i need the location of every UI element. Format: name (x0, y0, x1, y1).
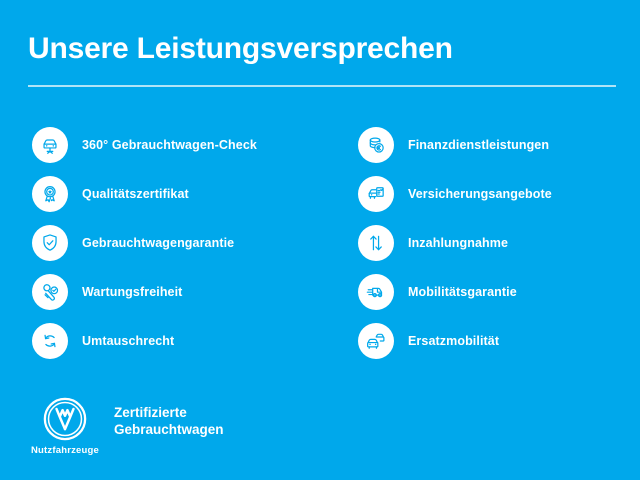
feature-label: Inzahlungnahme (408, 236, 508, 250)
feature-label: Qualitätszertifikat (82, 187, 189, 201)
badge-car-inspection (32, 127, 68, 163)
header-divider (28, 85, 616, 87)
feature-label: Umtauschrecht (82, 334, 174, 348)
badge-two-cars (358, 323, 394, 359)
feature-label: Versicherungsangebote (408, 187, 552, 201)
feature-columns: 360° Gebrauchtwagen-Check Qualitätszerti… (0, 120, 640, 365)
feature-item: Wartungsfreiheit (32, 267, 330, 316)
two-cars-icon (365, 330, 387, 352)
feature-label: Wartungsfreiheit (82, 285, 182, 299)
van-speed-icon (365, 281, 387, 303)
badge-shield-check (32, 225, 68, 261)
feature-item: 360° Gebrauchtwagen-Check (32, 120, 330, 169)
badge-coins-euro (358, 127, 394, 163)
badge-van-speed (358, 274, 394, 310)
brand-sub-label: Nutzfahrzeuge (31, 445, 99, 456)
badge-up-down-arrows (358, 225, 394, 261)
brand-block: Nutzfahrzeuge Zertifizierte Gebrauchtwag… (30, 396, 224, 456)
feature-item: Ersatzmobilität (358, 316, 640, 365)
brand-mark: Nutzfahrzeuge (30, 396, 100, 456)
badge-car-checklist (358, 176, 394, 212)
shield-check-icon (39, 232, 61, 254)
exchange-arrows-icon (39, 330, 61, 352)
header: Unsere Leistungsversprechen (28, 30, 616, 68)
feature-label: Ersatzmobilität (408, 334, 499, 348)
feature-item: Inzahlungnahme (358, 218, 640, 267)
brand-claim: Zertifizierte Gebrauchtwagen (114, 404, 224, 438)
feature-label: Finanzdienstleistungen (408, 138, 549, 152)
promise-poster: Unsere Leistungsversprechen 3 (0, 0, 640, 480)
brand-claim-line2: Gebrauchtwagen (114, 421, 224, 438)
brand-claim-line1: Zertifizierte (114, 404, 224, 421)
feature-label: Mobilitätsgarantie (408, 285, 517, 299)
coins-euro-icon (365, 134, 387, 156)
feature-item: Umtauschrecht (32, 316, 330, 365)
feature-item: Qualitätszertifikat (32, 169, 330, 218)
feature-item: Finanzdienstleistungen (358, 120, 640, 169)
car-checklist-icon (365, 183, 387, 205)
feature-column-left: 360° Gebrauchtwagen-Check Qualitätszerti… (0, 120, 330, 365)
up-down-arrows-icon (365, 232, 387, 254)
feature-column-right: Finanzdienstleistungen (330, 120, 640, 365)
car-inspection-icon (39, 134, 61, 156)
wrench-check-icon (39, 281, 61, 303)
vw-logo-icon (42, 396, 88, 442)
page-title: Unsere Leistungsversprechen (28, 30, 616, 68)
award-rosette-icon (39, 183, 61, 205)
feature-item: Gebrauchtwagengarantie (32, 218, 330, 267)
badge-wrench-check (32, 274, 68, 310)
badge-exchange-arrows (32, 323, 68, 359)
badge-award-rosette (32, 176, 68, 212)
feature-item: Mobilitätsgarantie (358, 267, 640, 316)
feature-label: Gebrauchtwagengarantie (82, 236, 234, 250)
feature-label: 360° Gebrauchtwagen-Check (82, 138, 257, 152)
feature-item: Versicherungsangebote (358, 169, 640, 218)
